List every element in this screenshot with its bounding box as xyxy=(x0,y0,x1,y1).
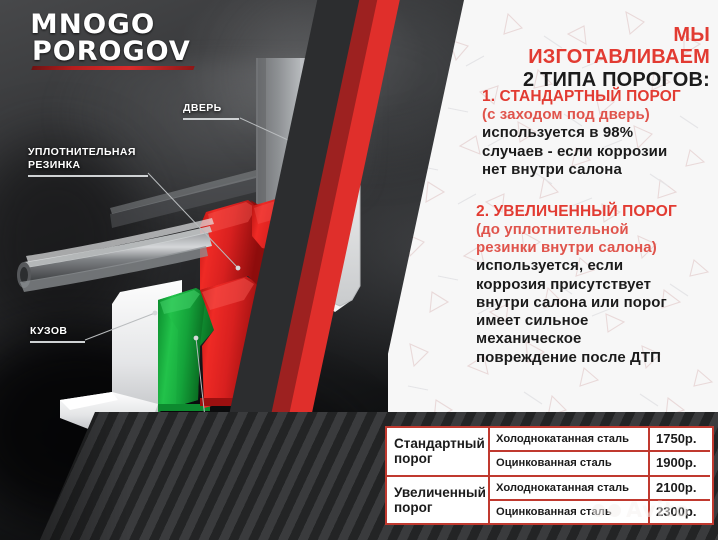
table-cell-material: Оцинкованная сталь xyxy=(490,452,650,476)
table-cell-material: Холоднокатанная сталь xyxy=(490,428,650,452)
watermark-dot xyxy=(592,504,605,517)
block1-subtitle: (с заходом под дверь) xyxy=(482,106,710,124)
block2-body-line2: коррозия присутствует xyxy=(476,276,710,294)
callout-rubber-seal: УПЛОТНИТЕЛЬНАЯ РЕЗИНКА xyxy=(28,146,148,177)
callout-rubber-line1: УПЛОТНИТЕЛЬНАЯ xyxy=(28,146,136,158)
block1-body-line2: случаев - если коррозии xyxy=(482,143,710,161)
callout-door: ДВЕРЬ xyxy=(183,102,239,120)
poster-canvas: MNOGO POROGOV xyxy=(0,0,718,540)
avito-watermark: Avito xyxy=(592,492,712,532)
block2-body-line1: используется, если xyxy=(476,257,710,275)
block2-subtitle-line1: (до уплотнительной xyxy=(476,221,710,239)
callout-underline xyxy=(28,175,148,177)
block2-body-line5: механическое xyxy=(476,330,710,348)
group1-name-line2: порог xyxy=(394,451,485,466)
info-block-enlarged: 2. УВЕЛИЧЕННЫЙ ПОРОГ (до уплотнительной … xyxy=(476,203,710,367)
callout-body-label: КУЗОВ xyxy=(30,325,67,337)
table-row-group-name: Стандартный порог xyxy=(387,428,490,477)
callout-underline xyxy=(183,118,239,120)
table-cell-price: 1900р. xyxy=(650,452,710,476)
block1-body-line1: используется в 98% xyxy=(482,124,710,142)
block2-body-line4: имеет сильное xyxy=(476,312,710,330)
block1-body-line3: нет внутри салона xyxy=(482,161,710,179)
watermark-dot xyxy=(608,504,621,517)
block2-body-line3: внутри салона или порог xyxy=(476,294,710,312)
table-row-group-name: Увеличенный порог xyxy=(387,477,490,524)
callout-underline xyxy=(30,341,85,343)
group1-name-line1: Стандартный xyxy=(394,436,485,451)
panel-headline: МЫ ИЗГОТАВЛИВАЕМ 2 ТИПА ПОРОГОВ: xyxy=(498,24,710,91)
headline-red: МЫ ИЗГОТАВЛИВАЕМ xyxy=(498,24,710,69)
info-block-standard: 1. СТАНДАРТНЫЙ ПОРОГ (с заходом под двер… xyxy=(482,88,710,179)
table-cell-price: 1750р. xyxy=(650,428,710,452)
group2-name-line2: порог xyxy=(394,500,486,515)
callout-body: КУЗОВ xyxy=(30,325,85,343)
callout-door-label: ДВЕРЬ xyxy=(183,102,222,114)
group2-name-line1: Увеличенный xyxy=(394,485,486,500)
block2-body-line6: повреждение после ДТП xyxy=(476,349,710,367)
block2-subtitle-line2: резинки внутри салона) xyxy=(476,239,710,257)
block1-title: 1. СТАНДАРТНЫЙ ПОРОГ xyxy=(482,88,710,106)
callout-rubber-line2: РЕЗИНКА xyxy=(28,159,81,171)
watermark-text: Avito xyxy=(626,498,689,522)
watermark-dots xyxy=(592,504,621,517)
block2-title: 2. УВЕЛИЧЕННЫЙ ПОРОГ xyxy=(476,203,710,221)
